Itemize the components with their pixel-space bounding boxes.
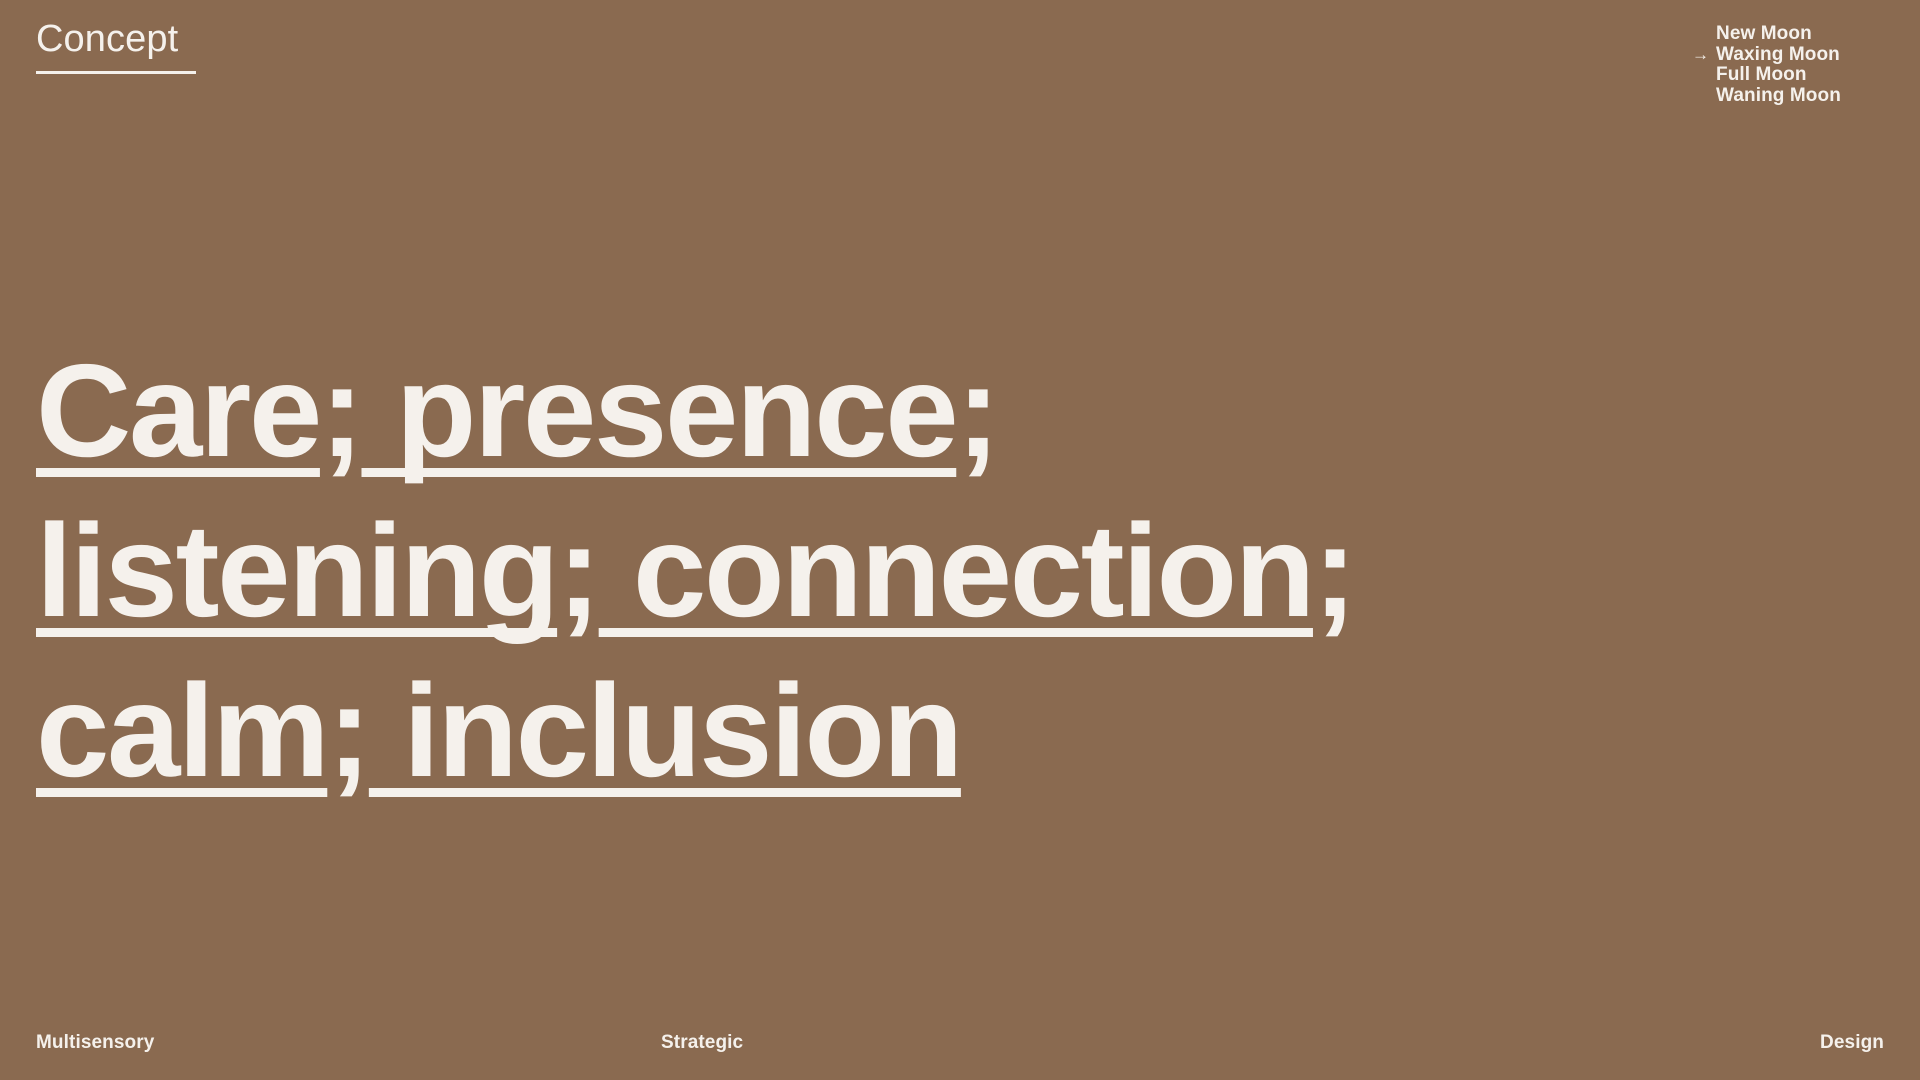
headline-line-1: Care; presence; [36, 331, 1736, 491]
headline-separator: ; [327, 657, 369, 804]
nav-item-label: Waxing Moon [1716, 44, 1840, 65]
slide-root: Concept → New Moon → Waxing Moon → Full … [0, 0, 1920, 1080]
section-underline-rule [36, 71, 196, 74]
headline-word: listening [36, 497, 557, 644]
nav-item-full-moon[interactable]: → Full Moon [1692, 65, 1892, 86]
headline-separator: ; [557, 497, 599, 644]
nav-item-label: Waning Moon [1716, 85, 1841, 106]
footer-label-left: Multisensory [36, 1032, 154, 1054]
headline-word: presence [361, 337, 956, 484]
nav-item-new-moon[interactable]: → New Moon [1692, 24, 1892, 45]
headline: Care; presence; listening; connection; c… [36, 331, 1736, 811]
headline-word: inclusion [369, 657, 961, 804]
section-eyebrow: Concept [36, 20, 196, 74]
headline-word: Care [36, 337, 320, 484]
headline-word: connection [599, 497, 1313, 644]
nav-item-label: Full Moon [1716, 64, 1807, 85]
headline-word: calm [36, 657, 327, 804]
footer: Multisensory Strategic Design [0, 988, 1920, 1080]
nav-item-waxing-moon[interactable]: → Waxing Moon [1692, 45, 1892, 66]
nav-item-waning-moon[interactable]: → Waning Moon [1692, 86, 1892, 107]
moon-phase-nav[interactable]: → New Moon → Waxing Moon → Full Moon → W… [1692, 24, 1892, 106]
headline-line-2: listening; connection; [36, 491, 1736, 651]
headline-line-3: calm; inclusion [36, 651, 1736, 811]
nav-item-label: New Moon [1716, 23, 1812, 44]
footer-label-right: Design [1820, 1032, 1884, 1054]
headline-separator: ; [956, 337, 998, 484]
arrow-right-icon: → [1692, 45, 1712, 66]
headline-separator: ; [1313, 497, 1355, 644]
headline-separator: ; [320, 337, 362, 484]
section-label: Concept [36, 20, 196, 58]
footer-label-center: Strategic [661, 1032, 743, 1054]
